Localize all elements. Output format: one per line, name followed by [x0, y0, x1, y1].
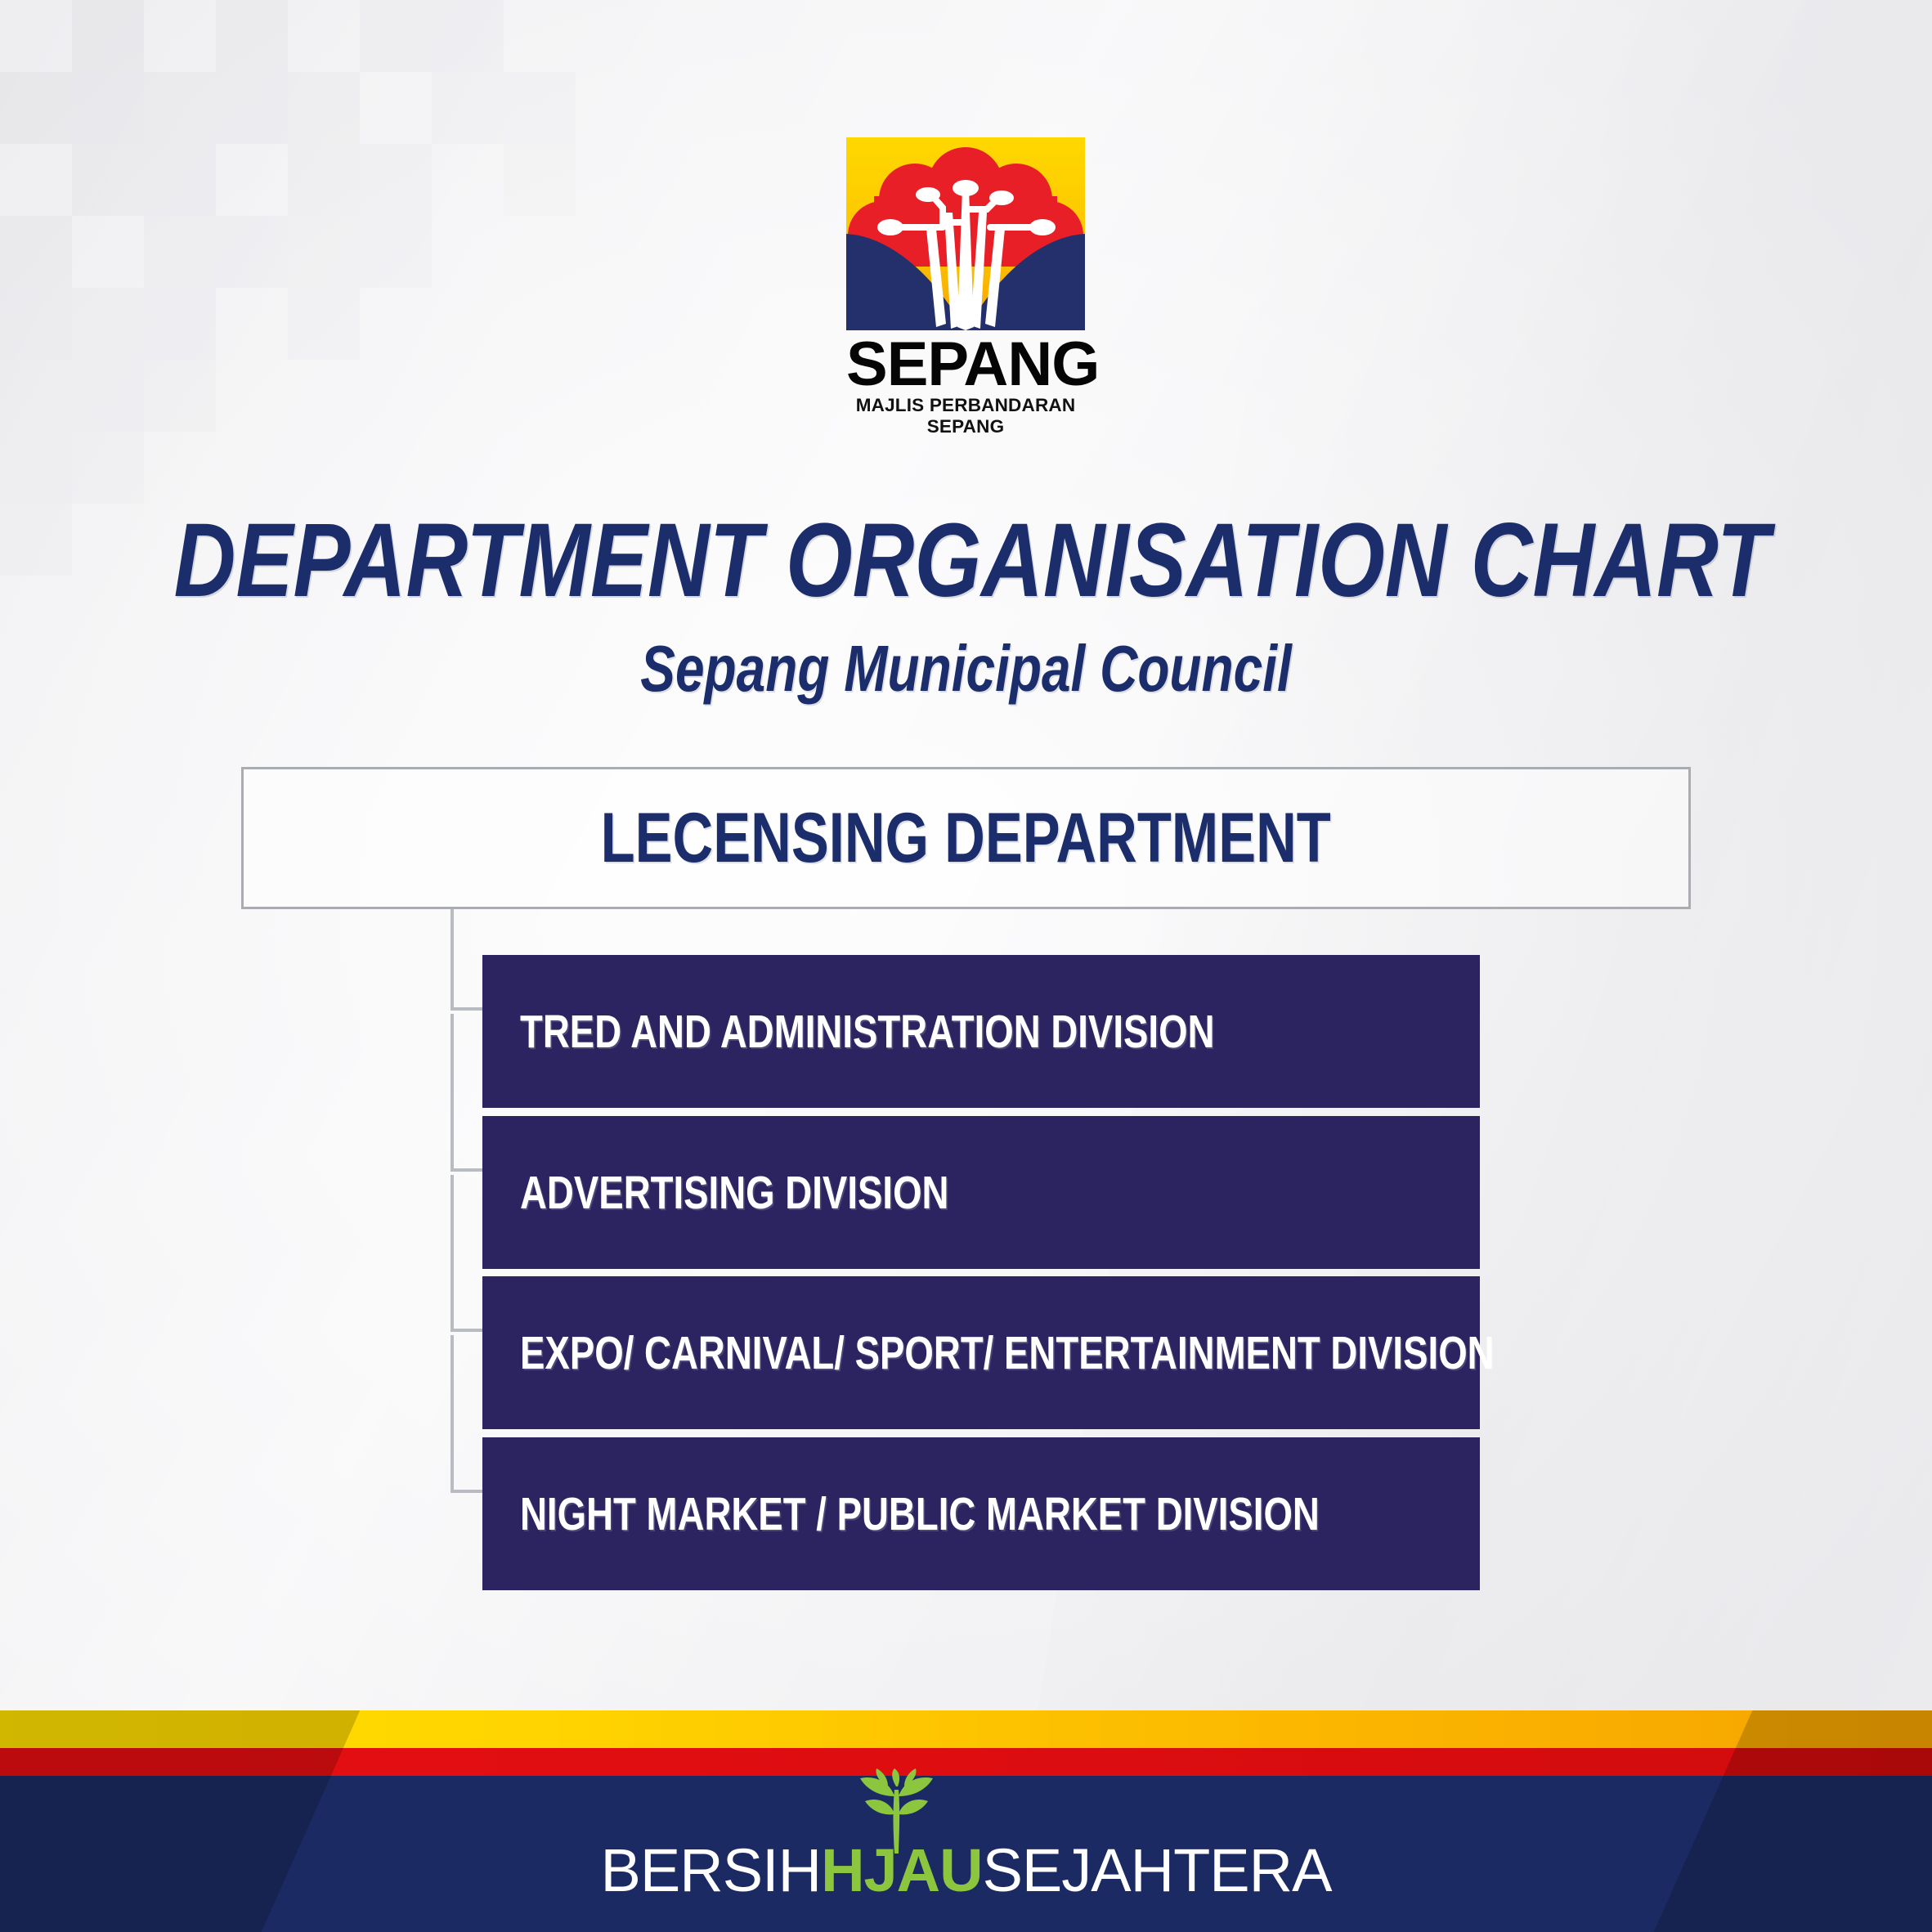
division-label: NIGHT MARKET / PUBLIC MARKET DIVISION [520, 1487, 1320, 1541]
department-root-box[interactable]: LECENSING DEPARTMENT [241, 767, 1691, 909]
tagline-h: H [821, 1836, 863, 1904]
poster-canvas: SEPANG MAJLIS PERBANDARAN SEPANG DEPARTM… [0, 0, 1932, 1932]
sepang-crest-icon [846, 137, 1085, 330]
division-box[interactable]: TRED AND ADMINISTRATION DIVISION [482, 955, 1480, 1108]
logo-wordmark: SEPANG [846, 335, 1085, 393]
division-box[interactable]: EXPO/ CARNIVAL/ SPORT/ ENTERTAINMENT DIV… [482, 1276, 1480, 1429]
footer: BERSIHHJAUSEJAHTERA [0, 1710, 1932, 1932]
council-logo: SEPANG MAJLIS PERBANDARAN SEPANG [846, 137, 1085, 437]
logo-subtitle: MAJLIS PERBANDARAN SEPANG [846, 395, 1085, 437]
division-label: TRED AND ADMINISTRATION DIVISION [520, 1005, 1215, 1059]
division-label: ADVERTISING DIVISION [520, 1166, 948, 1220]
page-subtitle: Sepang Municipal Council [193, 636, 1738, 702]
tagline-jau: JAU [864, 1836, 983, 1904]
tagline-sejahtera: SEJAHTERA [983, 1836, 1332, 1904]
tagline-bersih: BERSIH [601, 1836, 822, 1904]
decorative-mosaic-pattern [0, 0, 572, 523]
division-box[interactable]: NIGHT MARKET / PUBLIC MARKET DIVISION [482, 1437, 1480, 1590]
department-root-label: LECENSING DEPARTMENT [601, 798, 1331, 879]
page-title: DEPARTMENT ORGANISATION CHART [174, 509, 1759, 613]
footer-tagline: BERSIHHJAUSEJAHTERA [0, 1840, 1932, 1901]
division-box[interactable]: ADVERTISING DIVISION [482, 1116, 1480, 1269]
division-label: EXPO/ CARNIVAL/ SPORT/ ENTERTAINMENT DIV… [520, 1326, 1495, 1380]
